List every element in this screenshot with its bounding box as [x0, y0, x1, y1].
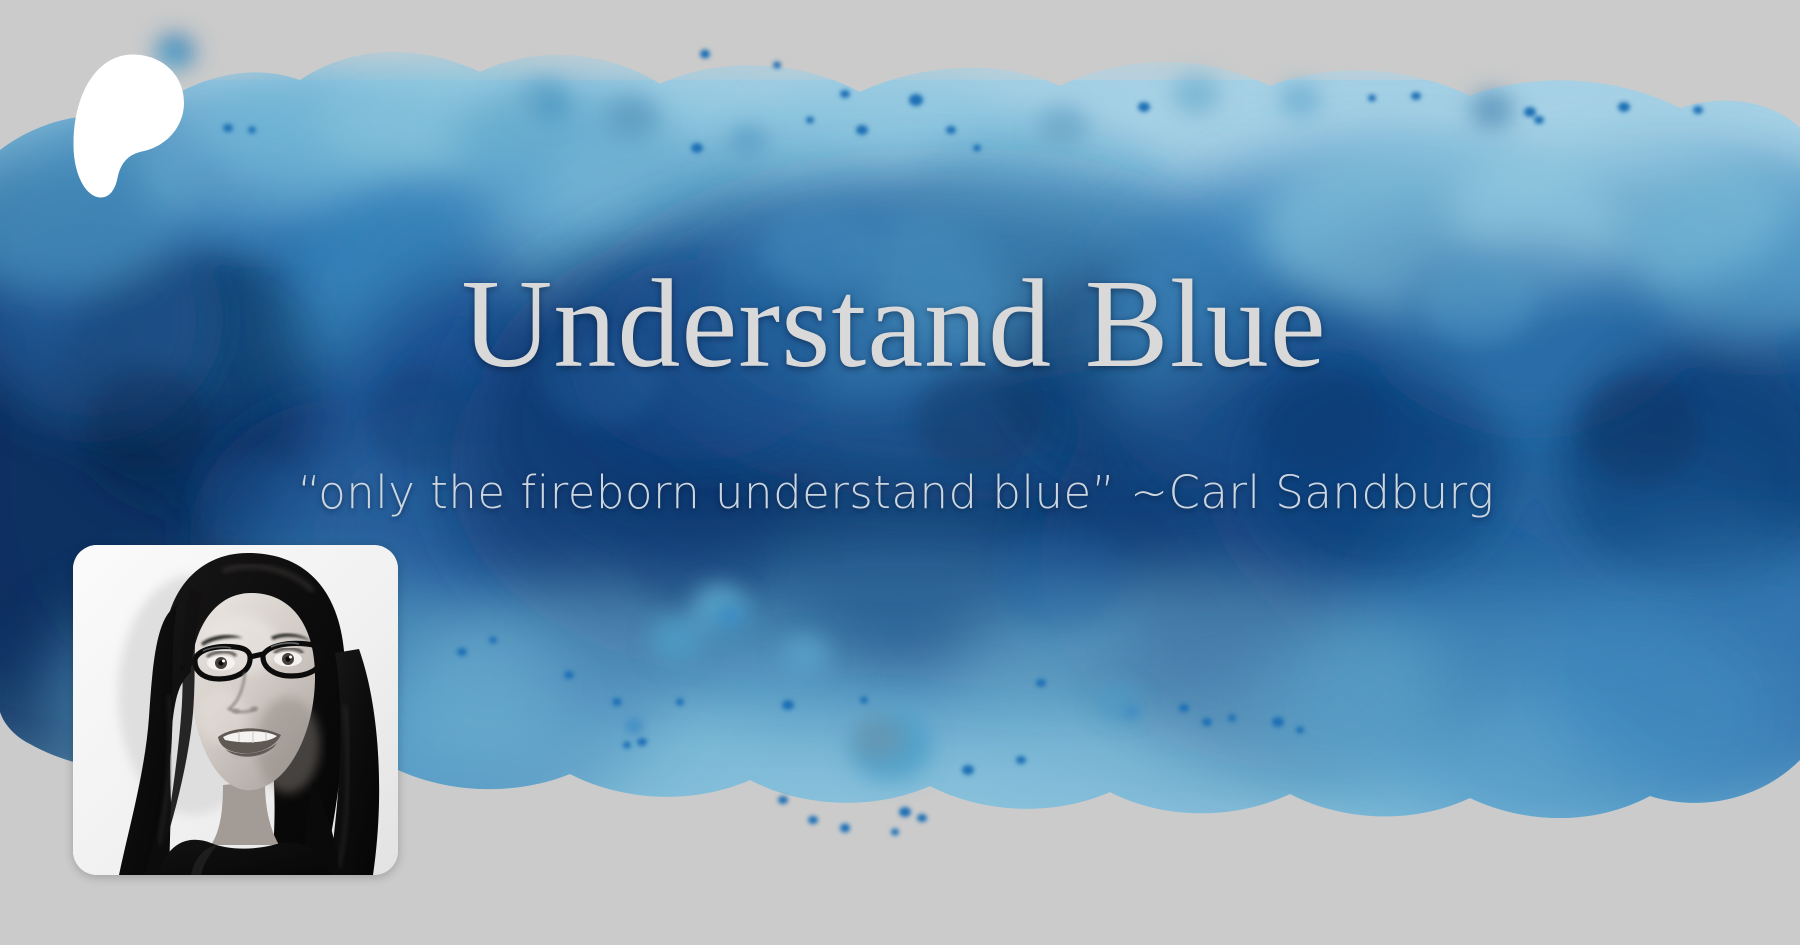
avatar[interactable]: [73, 545, 398, 875]
avatar-portrait-photo: [73, 545, 398, 875]
patreon-logo-icon[interactable]: [70, 52, 186, 200]
creator-page-banner: Understand Blue “only the fireborn under…: [0, 0, 1800, 945]
